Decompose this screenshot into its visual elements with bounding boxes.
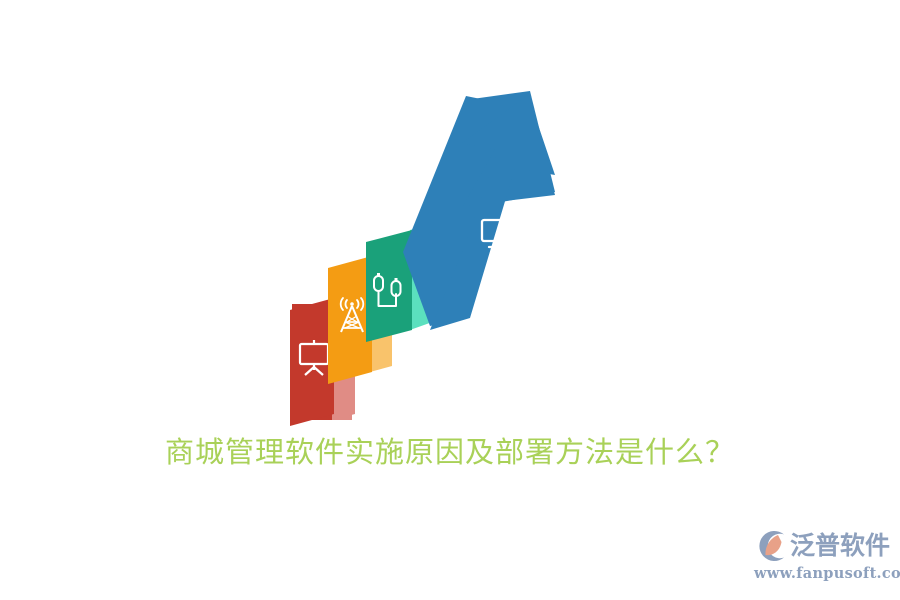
fanpu-c-sail-logo-icon [754, 529, 788, 563]
brand-row: 泛普软件 [754, 528, 886, 564]
brand-url: www.fanpusoft.com [754, 565, 886, 583]
brand-watermark: 泛普软件 www.fanpusoft.com [754, 528, 886, 586]
ascending-arrow-infographic [270, 80, 590, 440]
poster-canvas: 商城管理软件实施原因及部署方法是什么？ 泛普软件 www.fanpusoft.c… [0, 0, 900, 600]
arrow-segment-blue [403, 91, 555, 330]
page-title: 商城管理软件实施原因及部署方法是什么？ [0, 432, 900, 472]
brand-name: 泛普软件 [790, 529, 890, 563]
